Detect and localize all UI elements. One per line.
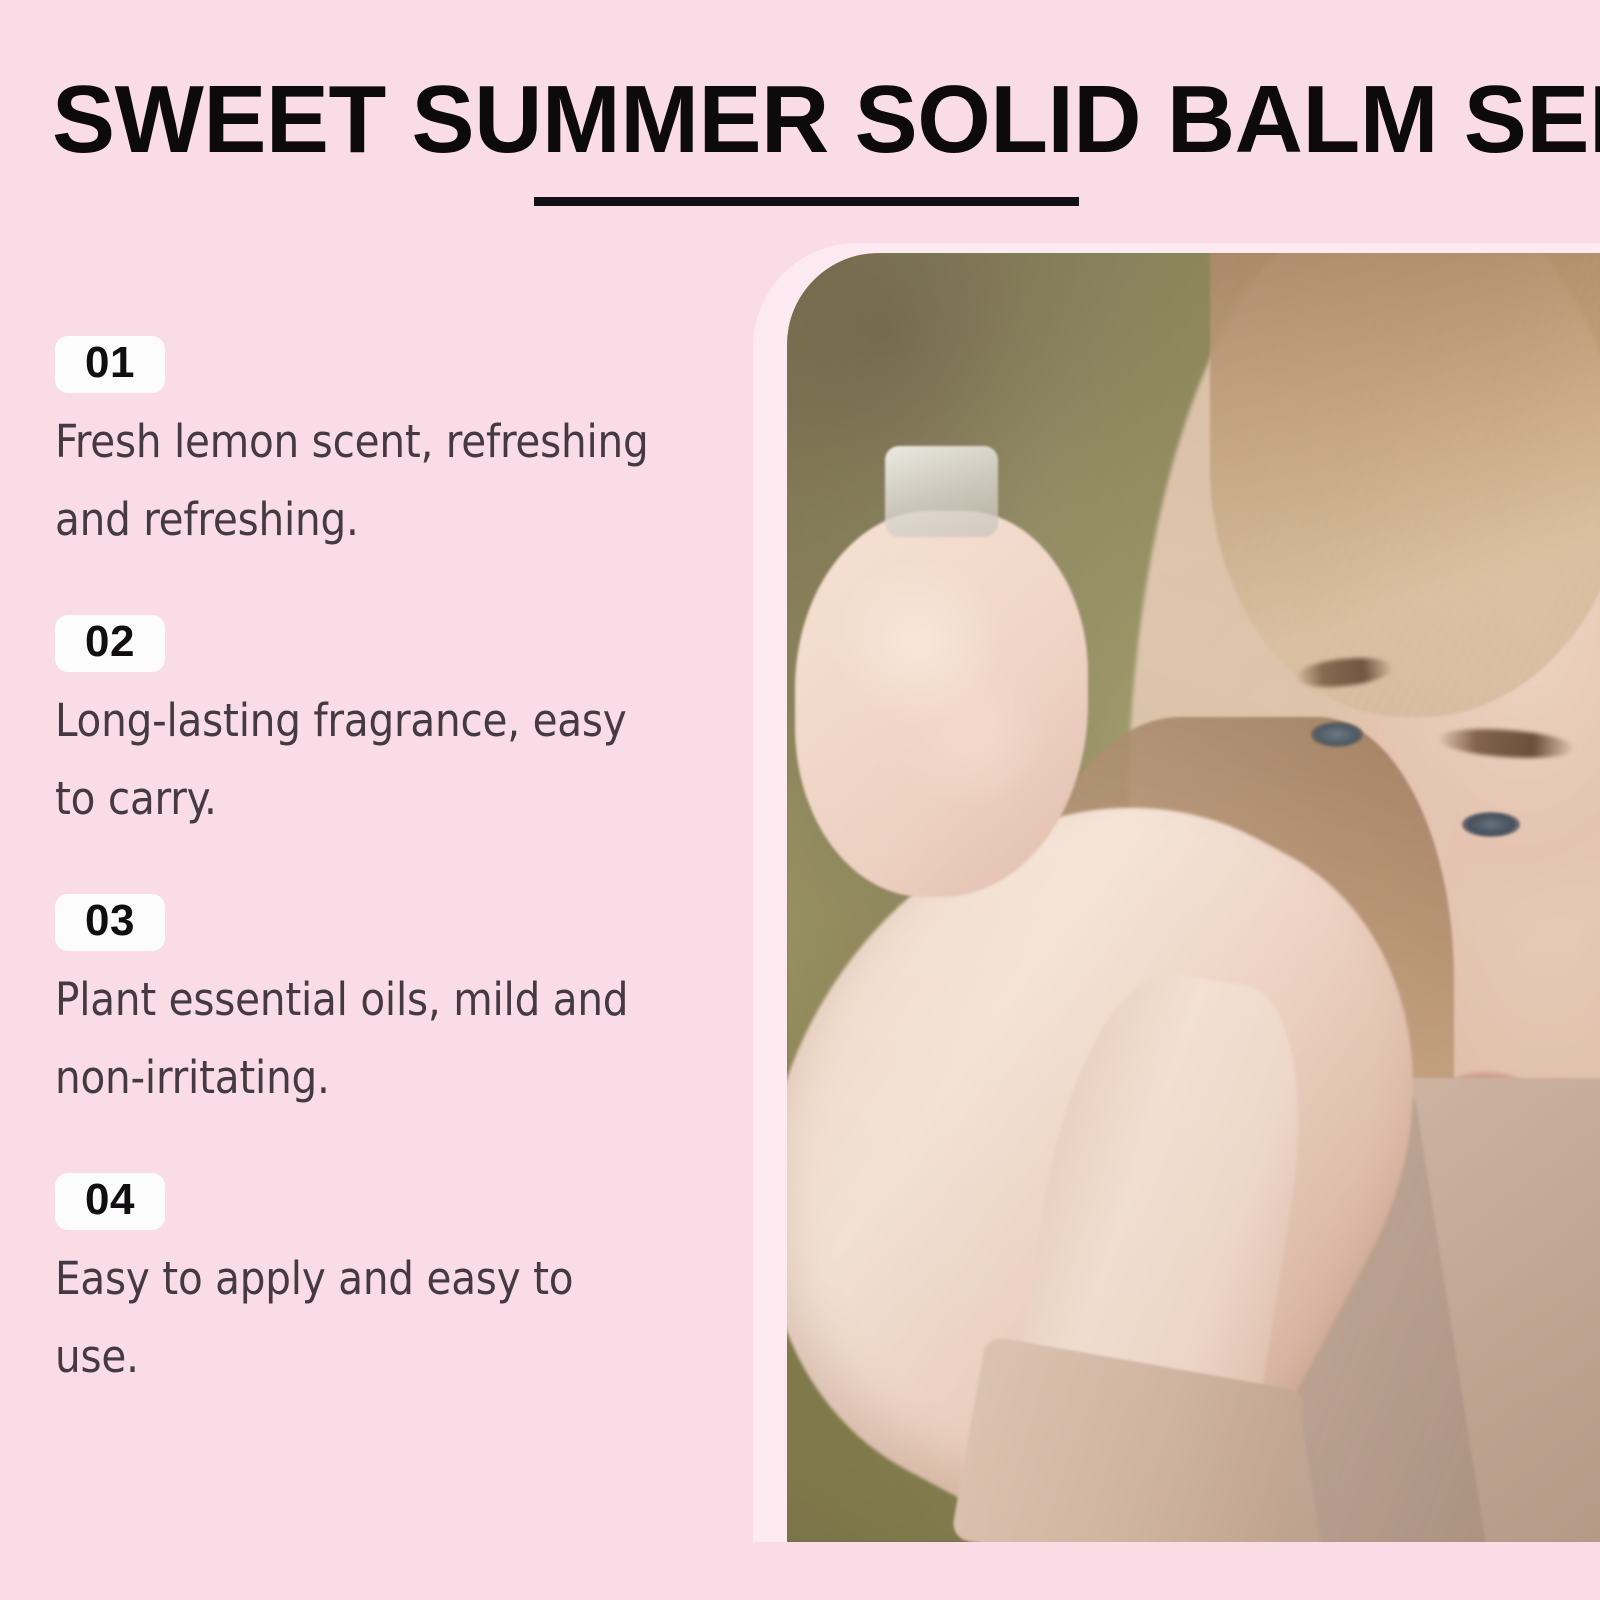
photo-color-grade	[787, 253, 1600, 1542]
feature-list: 01 Fresh lemon scent, refreshing and ref…	[55, 336, 695, 1396]
feature-description: Fresh lemon scent, refreshing and refres…	[55, 403, 655, 559]
feature-number-badge: 04	[55, 1173, 165, 1230]
feature-item: 02 Long-lasting fragrance, easy to carry…	[55, 615, 695, 838]
product-feature-poster: SWEET SUMMER SOLID BALM SERIES 01 Fresh …	[0, 0, 1600, 1600]
feature-description: Long-lasting fragrance, easy to carry.	[55, 682, 655, 838]
feature-description: Easy to apply and easy to use.	[55, 1240, 655, 1396]
title-underline-rule	[534, 197, 1079, 206]
model-photo	[787, 253, 1600, 1542]
feature-item: 01 Fresh lemon scent, refreshing and ref…	[55, 336, 695, 559]
feature-number-badge: 03	[55, 894, 165, 951]
feature-item: 04 Easy to apply and easy to use.	[55, 1173, 695, 1396]
feature-item: 03 Plant essential oils, mild and non-ir…	[55, 894, 695, 1117]
feature-number-badge: 02	[55, 615, 165, 672]
feature-description: Plant essential oils, mild and non-irrit…	[55, 961, 655, 1117]
page-title: SWEET SUMMER SOLID BALM SERIES	[52, 68, 1530, 172]
feature-number-badge: 01	[55, 336, 165, 393]
